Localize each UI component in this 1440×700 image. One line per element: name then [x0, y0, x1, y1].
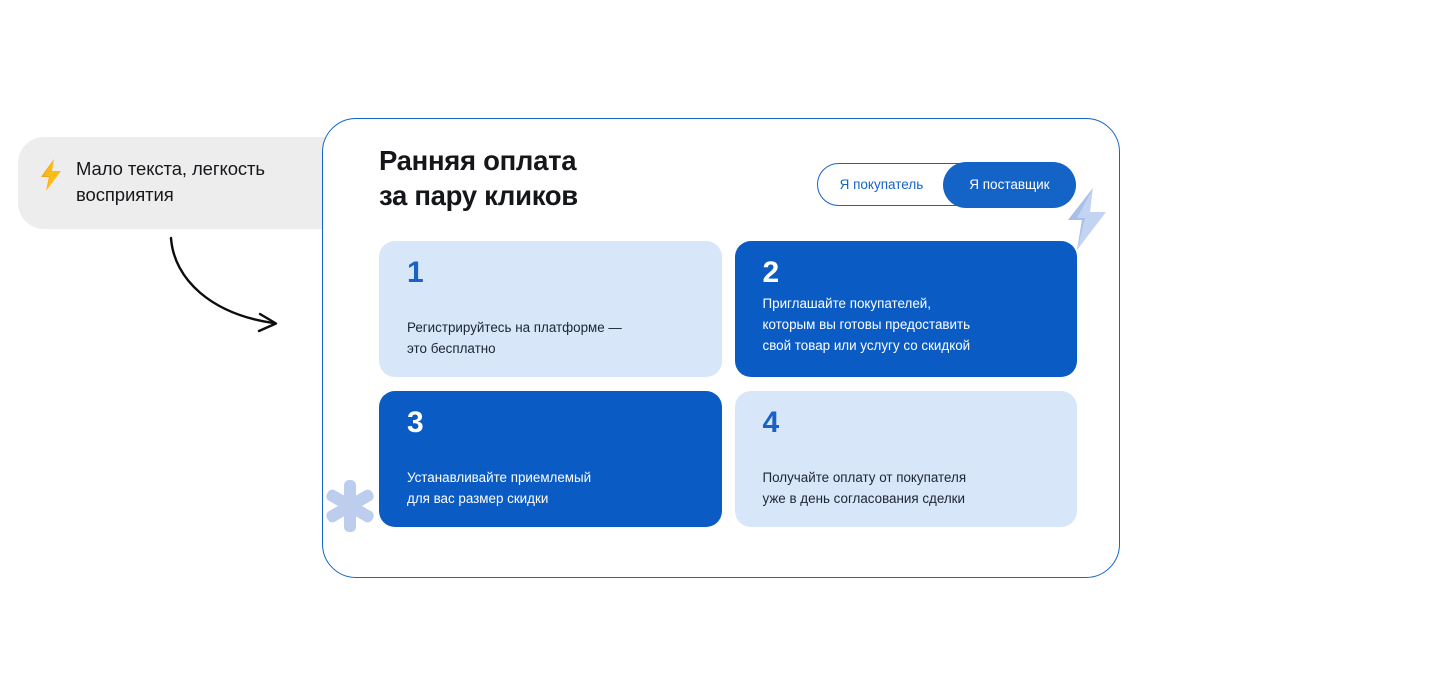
curved-arrow-icon: [150, 228, 310, 343]
lightning-bolt-icon: [38, 158, 64, 192]
step-card-3: 3 Устанавливайте приемлемый для вас разм…: [379, 391, 722, 527]
step-text: Регистрируйтесь на платформе — это беспл…: [407, 317, 700, 359]
step-number: 2: [763, 257, 1056, 289]
step-text: Приглашайте покупателей, которым вы гото…: [763, 293, 1056, 357]
audience-toggle[interactable]: Я покупатель Я поставщик: [817, 163, 1075, 206]
step-text: Получайте оплату от покупателя уже в ден…: [763, 467, 1056, 509]
step-card-1: 1 Регистрируйтесь на платформе — это бес…: [379, 241, 722, 377]
promo-panel: Ранняя оплата за пару кликов Я покупател…: [322, 118, 1120, 578]
annotation-callout: Мало текста, легкость восприятия: [18, 137, 348, 229]
step-number: 4: [763, 407, 1056, 439]
step-number: 1: [407, 257, 700, 289]
toggle-option-supplier[interactable]: Я поставщик: [943, 162, 1075, 208]
steps-grid: 1 Регистрируйтесь на платформе — это бес…: [379, 241, 1077, 527]
step-card-2: 2 Приглашайте покупателей, которым вы го…: [735, 241, 1078, 377]
step-number: 3: [407, 407, 700, 439]
annotation-text: Мало текста, легкость восприятия: [76, 156, 265, 209]
step-card-4: 4 Получайте оплату от покупателя уже в д…: [735, 391, 1078, 527]
panel-header: Ранняя оплата за пару кликов Я покупател…: [379, 143, 1075, 227]
toggle-option-buyer[interactable]: Я покупатель: [818, 163, 944, 206]
step-text: Устанавливайте приемлемый для вас размер…: [407, 467, 700, 509]
